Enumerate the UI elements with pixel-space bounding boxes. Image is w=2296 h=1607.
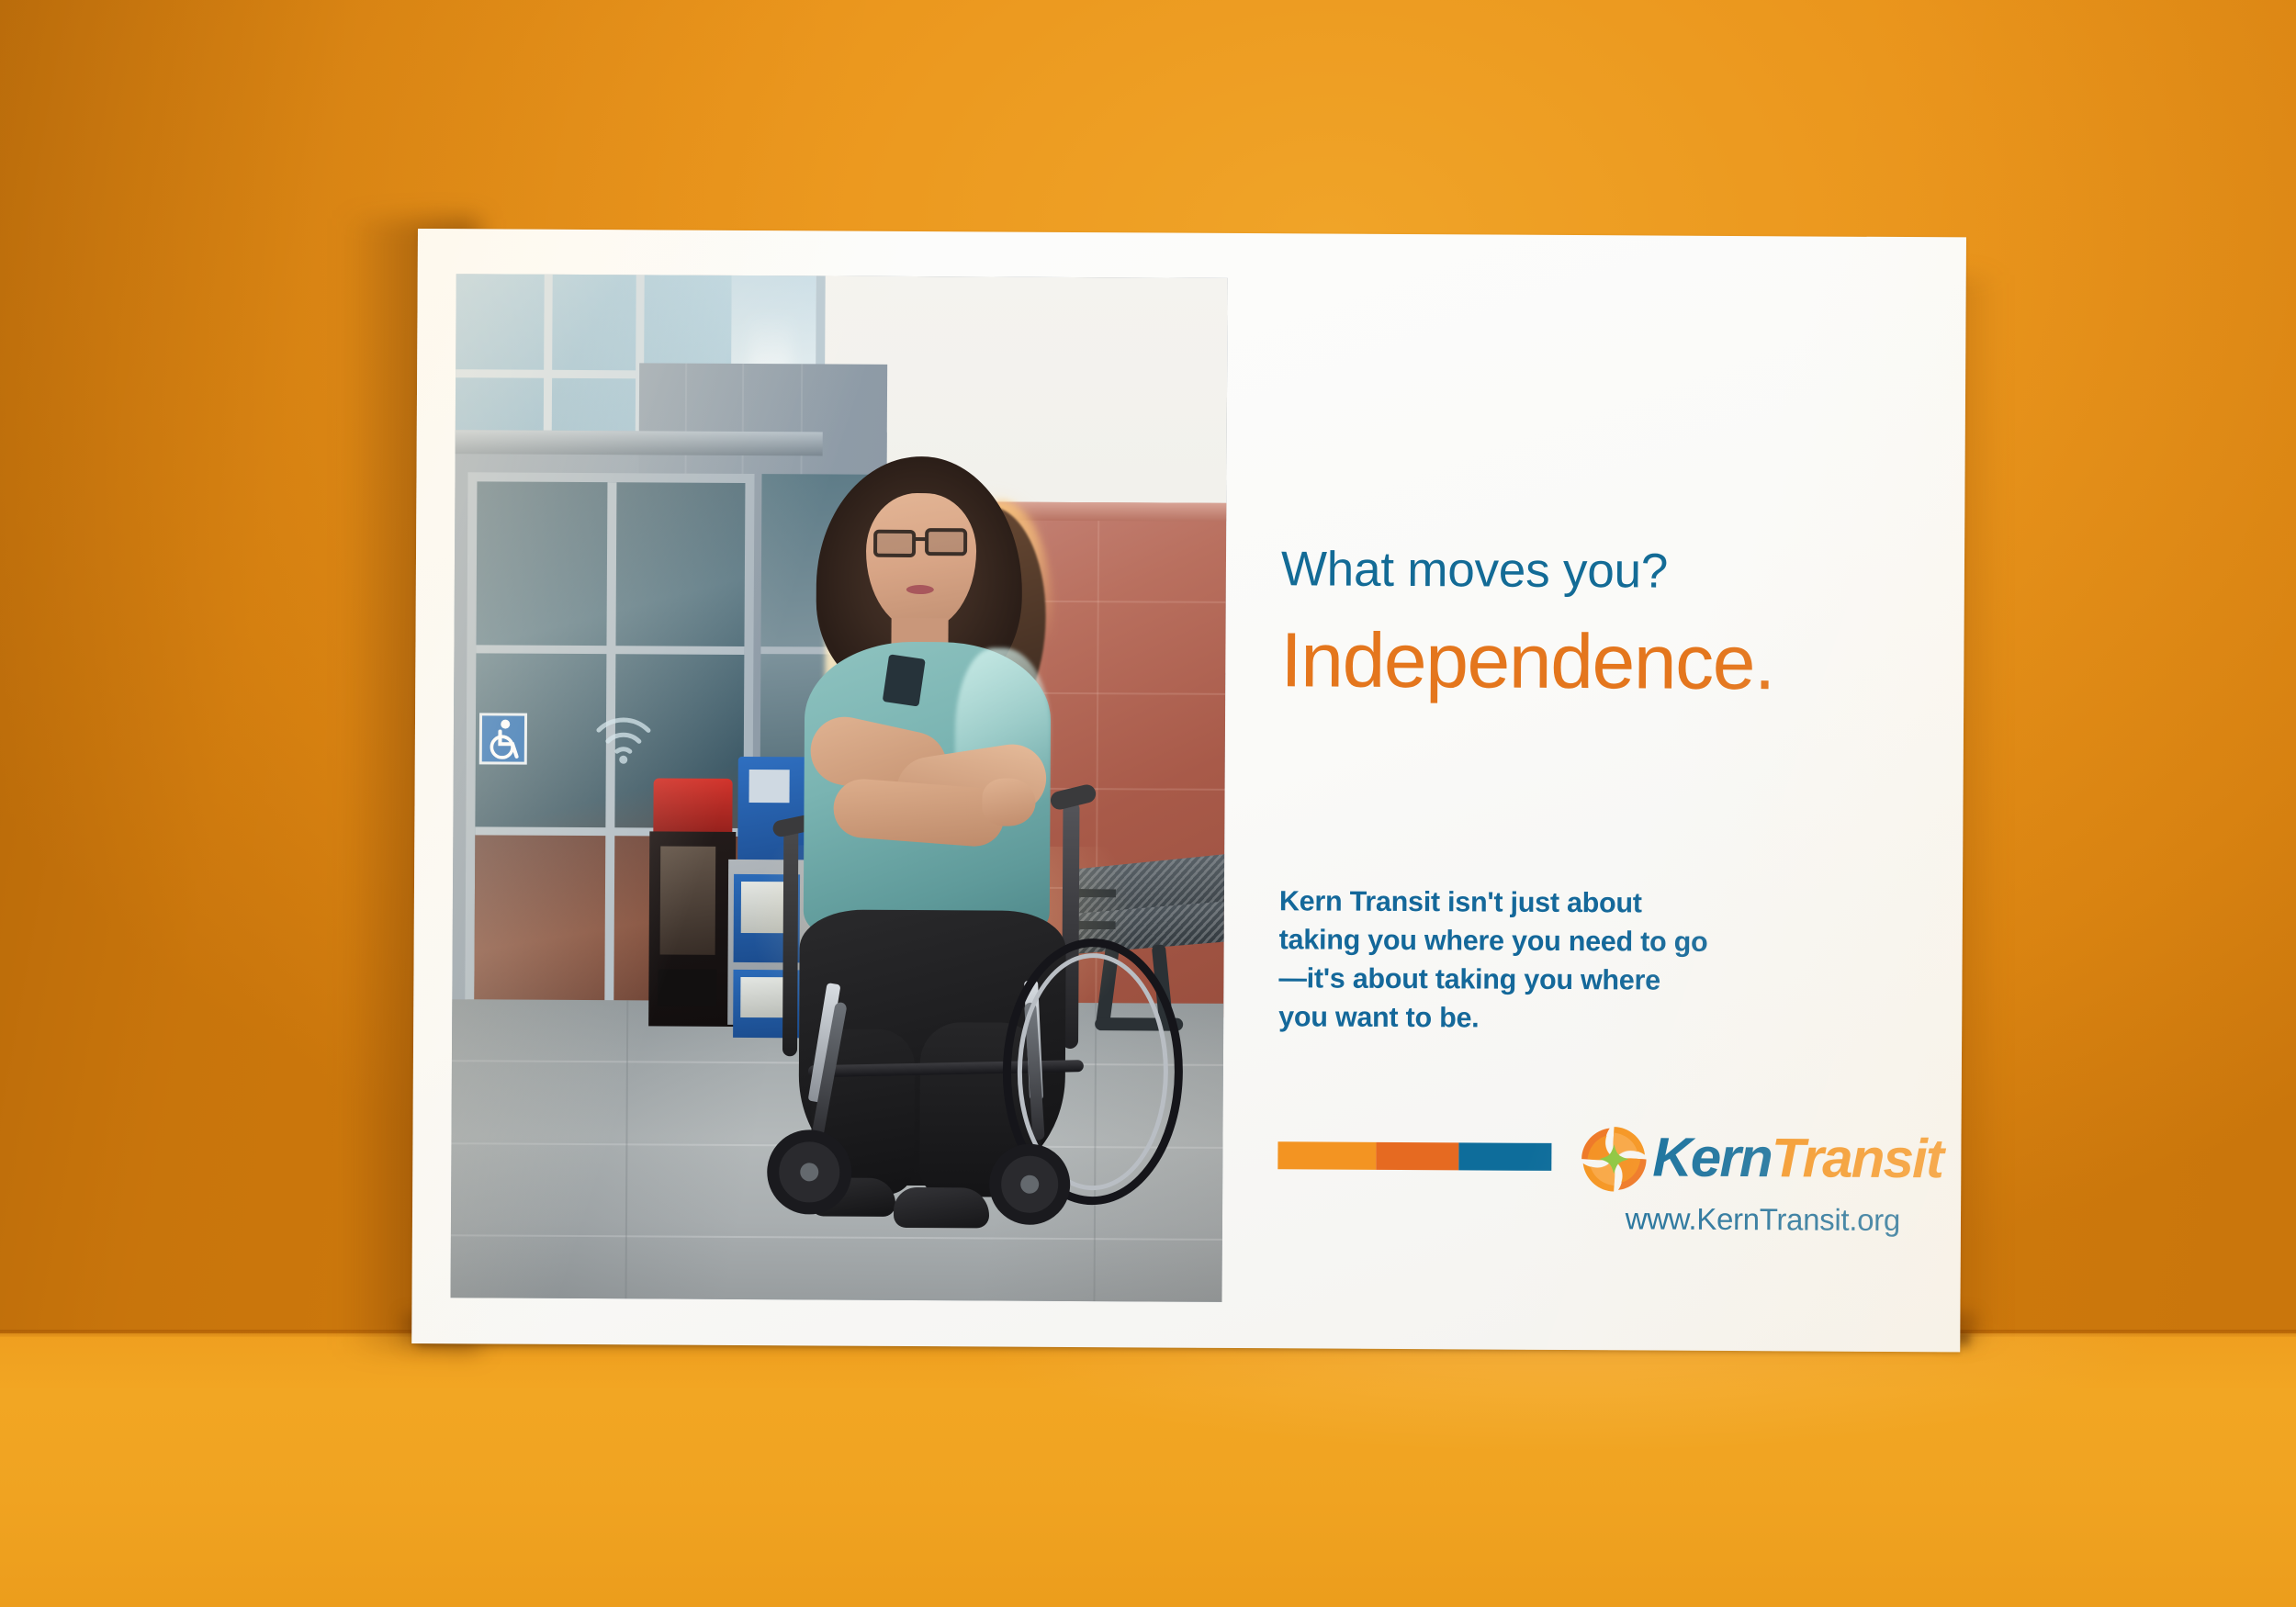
wheelchair-backpost-left — [782, 826, 798, 1056]
bar-segment-light-orange — [1277, 1141, 1376, 1170]
lips — [906, 585, 934, 594]
floor-light-bounce — [827, 1333, 2296, 1526]
bar-segment-dark-orange — [1377, 1142, 1459, 1170]
eyebrow-text: What moves you? — [1281, 544, 1924, 599]
website-url: www.KernTransit.org — [1277, 1199, 1957, 1238]
pinwheel-star-mark — [1577, 1122, 1650, 1196]
tricolor-bar — [1277, 1141, 1551, 1171]
hand — [982, 778, 1035, 826]
poster: What moves you? Independence. Kern Trans… — [411, 229, 1966, 1352]
wheelchair-caster-right — [989, 1143, 1070, 1224]
eyeglasses-bridge — [914, 537, 927, 541]
eyeglasses-left-lens — [873, 530, 916, 557]
wordmark: KernTransit — [1652, 1130, 1942, 1187]
shoe-right — [894, 1187, 989, 1229]
eyeglasses-right-lens — [925, 528, 967, 556]
body-copy: Kern Transit isn't just about taking you… — [1278, 882, 1709, 1039]
headline-text: Independence. — [1280, 621, 1960, 703]
logo-lockup: KernTransit — [1277, 1126, 1957, 1188]
poster-photo — [450, 274, 1227, 1302]
woman-in-wheelchair — [450, 274, 1227, 1302]
wordmark-transit: Transit — [1772, 1127, 1943, 1189]
studio-scene: What moves you? Independence. Kern Trans… — [0, 0, 2296, 1607]
inner-top-strap — [883, 654, 926, 706]
bar-segment-blue — [1458, 1142, 1551, 1171]
wordmark-kern: Kern — [1652, 1127, 1772, 1189]
wheelchair-caster-left — [767, 1129, 852, 1215]
poster-copy-area: What moves you? Independence. Kern Trans… — [1277, 233, 1966, 1352]
